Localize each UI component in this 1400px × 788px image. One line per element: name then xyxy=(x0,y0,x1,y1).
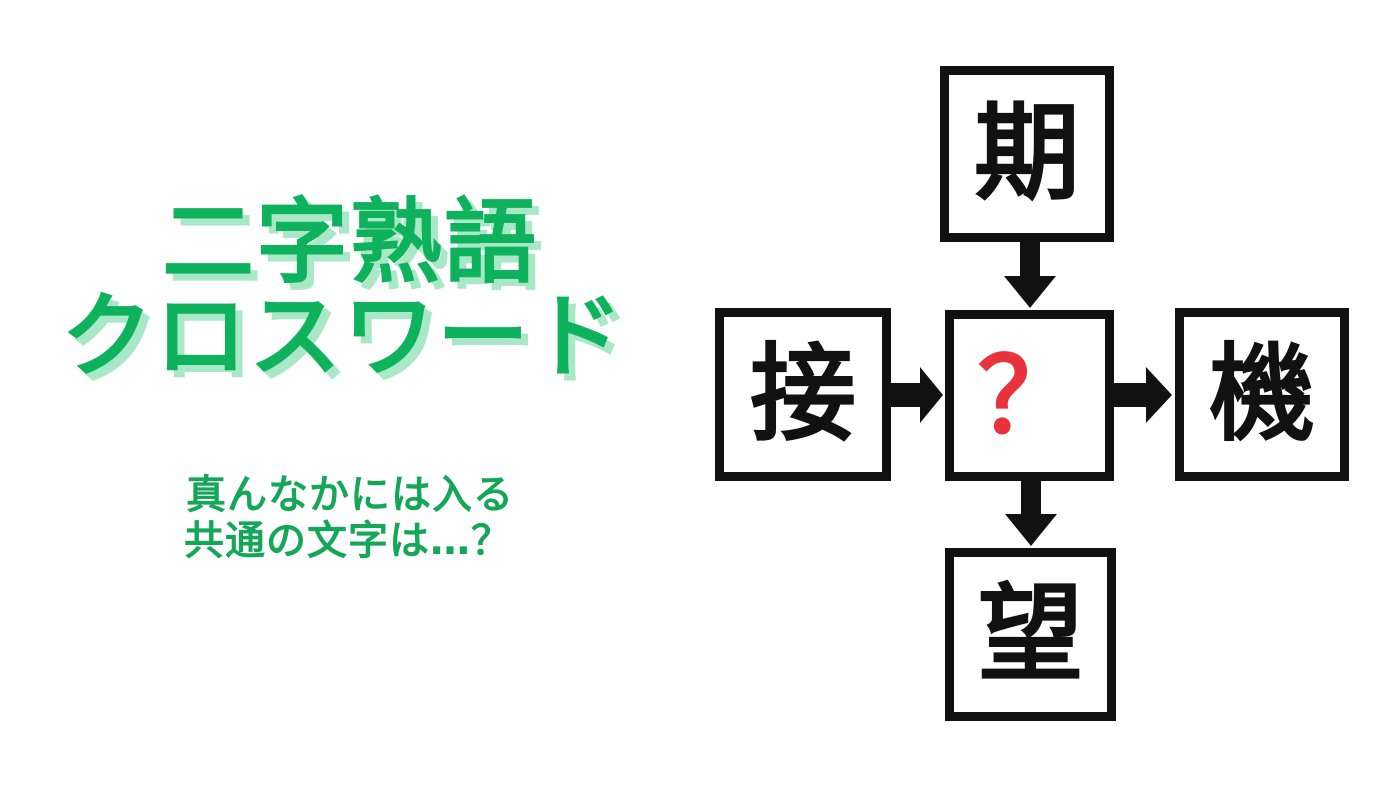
subtitle-line-2: 共通の文字は…？ xyxy=(0,519,700,565)
arrow-right-icon xyxy=(891,364,945,426)
puzzle-cell-left-character: 接 xyxy=(750,342,856,448)
question-mark-icon: ？ xyxy=(977,344,1081,448)
crossword-diagram: 期 接 ？ 機 望 xyxy=(690,40,1390,750)
page-subtitle: 真んなかには入る 共通の文字は…？ xyxy=(0,473,700,564)
puzzle-cell-right-character: 機 xyxy=(1209,342,1315,448)
title-line-1: 二字熟語 xyxy=(0,196,700,290)
puzzle-cell-top-character: 期 xyxy=(974,101,1080,207)
arrow-down-icon xyxy=(1001,481,1061,548)
puzzle-cell-left: 接 xyxy=(715,308,891,481)
puzzle-cell-right: 機 xyxy=(1175,308,1349,481)
puzzle-cell-bottom-character: 望 xyxy=(978,582,1084,688)
slide-canvas: 二字熟語 クロスワード 真んなかには入る 共通の文字は…？ 期 接 ？ 機 望 xyxy=(0,0,1400,788)
puzzle-cell-center-answer[interactable]: ？ xyxy=(945,310,1114,481)
promo-panel: 二字熟語 クロスワード 真んなかには入る 共通の文字は…？ xyxy=(0,0,700,788)
puzzle-cell-bottom: 望 xyxy=(945,548,1116,721)
arrow-down-icon xyxy=(1000,242,1060,310)
puzzle-cell-top: 期 xyxy=(940,66,1114,242)
subtitle-line-1: 真んなかには入る xyxy=(0,473,700,519)
page-title: 二字熟語 クロスワード xyxy=(0,196,700,384)
title-line-2: クロスワード xyxy=(0,290,700,384)
arrow-right-icon xyxy=(1114,364,1175,426)
